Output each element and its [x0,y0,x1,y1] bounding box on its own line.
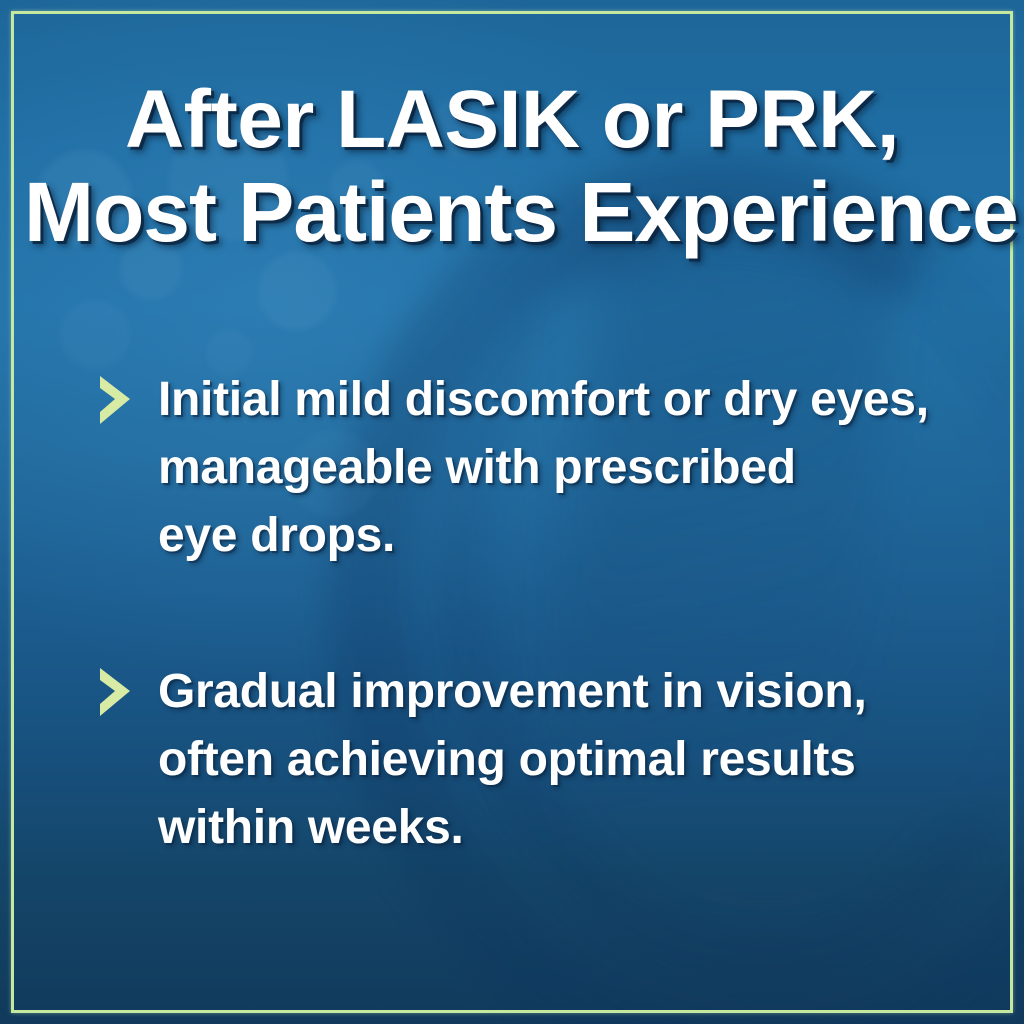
title-line-1: After LASIK or PRK, [24,74,1000,166]
list-item: Initial mild discomfort or dry eyes, man… [96,366,968,570]
list-item-text: Gradual improvement in vision, often ach… [158,658,968,862]
page-title: After LASIK or PRK, Most Patients Experi… [0,74,1024,258]
bullet-list: Initial mild discomfort or dry eyes, man… [96,366,968,862]
bokeh-circle [258,252,336,330]
bokeh-circle [60,300,130,370]
chevron-right-icon [96,374,136,426]
title-line-2: Most Patients Experience: [24,166,1000,258]
list-item-text: Initial mild discomfort or dry eyes, man… [158,366,968,570]
chevron-right-icon [96,666,136,718]
infographic-slide: After LASIK or PRK, Most Patients Experi… [0,0,1024,1024]
list-item: Gradual improvement in vision, often ach… [96,658,968,862]
